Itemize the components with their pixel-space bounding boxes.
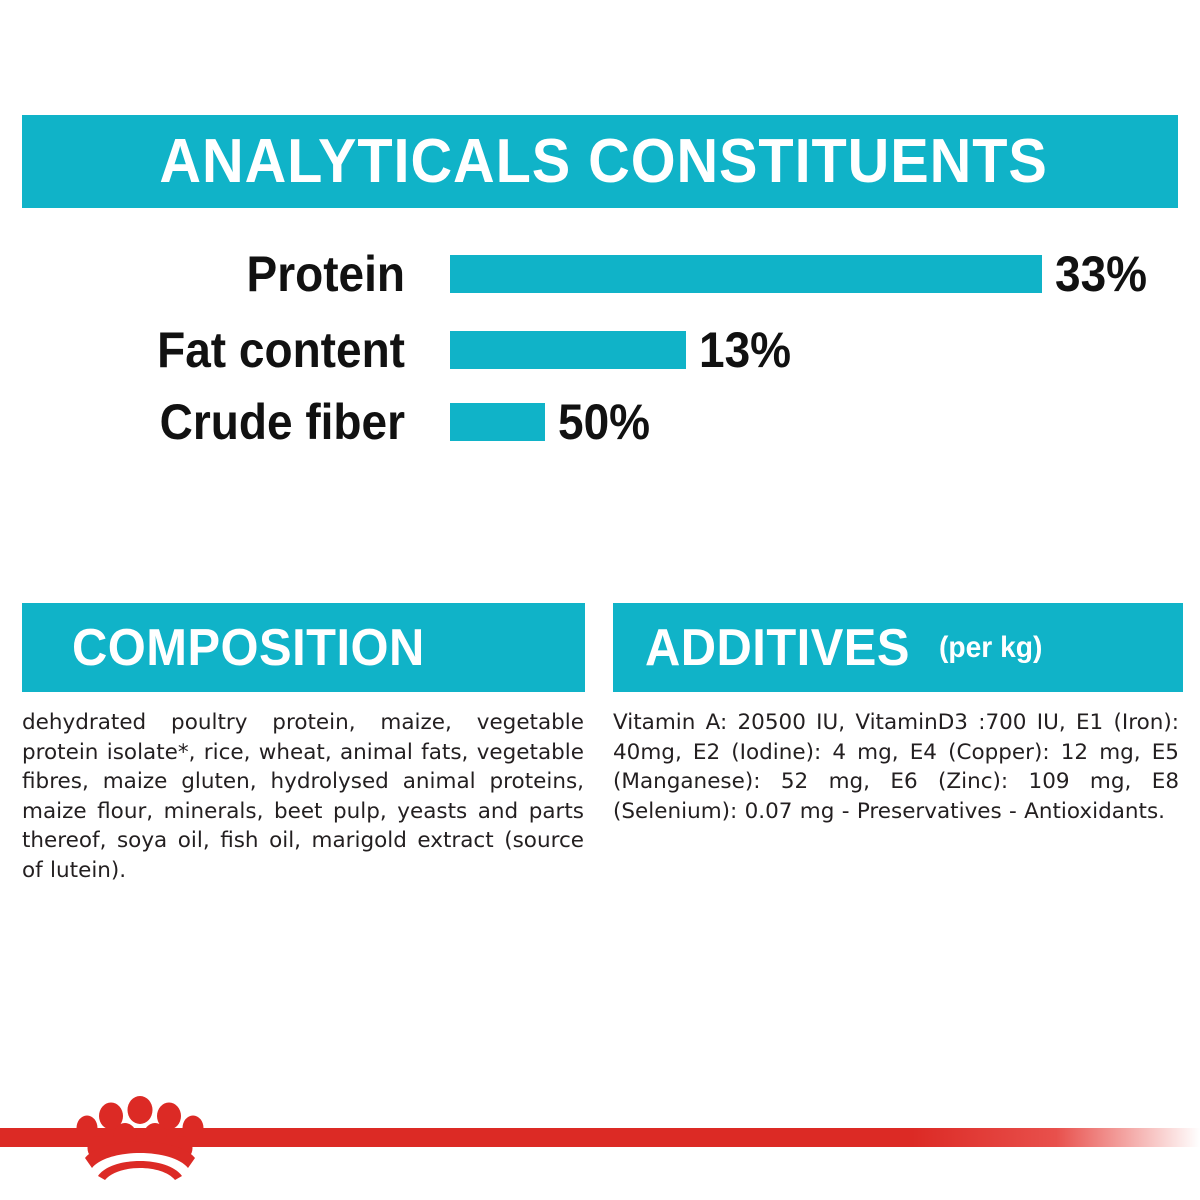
bar-value-fat-content: 13% (699, 325, 791, 375)
constituents-bar-chart: Protein 33% Fat content 13% Crude fiber … (0, 248, 1200, 458)
additives-header: ADDITIVES (per kg) (613, 603, 1183, 692)
chart-row-protein: Protein 33% (0, 248, 1200, 300)
bar-label-crude-fiber: Crude fiber (32, 397, 405, 447)
composition-panel: COMPOSITION dehydrated poultry protein, … (22, 603, 592, 885)
bar-track-protein: 33% (405, 248, 1200, 300)
additives-panel: ADDITIVES (per kg) Vitamin A: 20500 IU, … (613, 603, 1183, 826)
bar-label-protein: Protein (32, 249, 405, 299)
composition-header: COMPOSITION (22, 603, 585, 692)
bar-value-crude-fiber: 50% (558, 397, 650, 447)
composition-heading: COMPOSITION (72, 622, 425, 674)
bar-track-crude-fiber: 50% (405, 396, 1200, 448)
bar-label-fat-content: Fat content (32, 325, 405, 375)
additives-heading-suffix: (per kg) (939, 631, 1042, 665)
chart-row-fat-content: Fat content 13% (0, 324, 1200, 376)
page-title: ANALYTICALS CONSTITUENTS (160, 131, 1048, 193)
bar-fill-protein (450, 255, 1042, 293)
additives-heading: ADDITIVES (645, 622, 910, 674)
composition-body-text: dehydrated poultry protein, maize, veget… (22, 708, 584, 885)
chart-row-crude-fiber: Crude fiber 50% (0, 396, 1200, 448)
bar-fill-crude-fiber (450, 403, 545, 441)
bar-value-protein: 33% (1055, 249, 1147, 299)
bar-track-fat-content: 13% (405, 324, 1200, 376)
additives-body-text: Vitamin A: 20500 IU, VitaminD3 :700 IU, … (613, 708, 1179, 826)
analyticals-constituents-header: ANALYTICALS CONSTITUENTS (22, 115, 1178, 208)
bar-fill-fat-content (450, 331, 686, 369)
royal-canin-crown-icon (72, 1096, 208, 1180)
